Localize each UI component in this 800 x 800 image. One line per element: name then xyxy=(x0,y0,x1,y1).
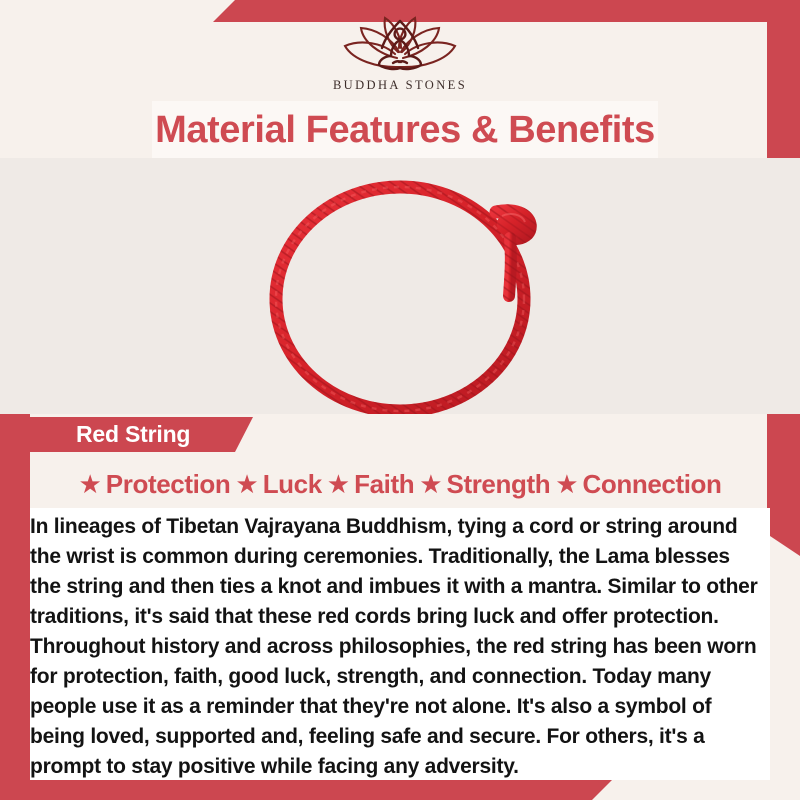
brand-block: BUDDHA STONES xyxy=(0,10,800,93)
feature-list: ★ Protection ★ Luck ★ Faith ★ Strength ★… xyxy=(0,466,800,502)
feature-item-strength: ★ Strength xyxy=(419,471,550,497)
red-string-bracelet-image xyxy=(222,158,582,414)
feature-item-connection: ★ Connection xyxy=(555,471,721,497)
star-icon: ★ xyxy=(235,471,258,497)
feature-label: Connection xyxy=(583,471,722,497)
material-ribbon: Red String xyxy=(30,417,253,452)
product-hero-band xyxy=(0,158,800,414)
page-title: Material Features & Benefits xyxy=(155,111,655,149)
star-icon: ★ xyxy=(555,471,578,497)
material-name-label: Red String xyxy=(30,421,190,448)
infographic-page: BUDDHA STONES Material Features & Benefi… xyxy=(0,0,800,800)
brand-wordmark: BUDDHA STONES xyxy=(333,78,467,93)
star-icon: ★ xyxy=(78,471,101,497)
description-text: In lineages of Tibetan Vajrayana Buddhis… xyxy=(30,512,762,782)
feature-item-luck: ★ Luck xyxy=(235,471,321,497)
feature-item-faith: ★ Faith xyxy=(327,471,414,497)
feature-label: Protection xyxy=(106,471,231,497)
feature-item-protection: ★ Protection xyxy=(78,471,230,497)
star-icon: ★ xyxy=(419,471,442,497)
star-icon: ★ xyxy=(327,471,350,497)
feature-label: Faith xyxy=(354,471,414,497)
description-panel: In lineages of Tibetan Vajrayana Buddhis… xyxy=(30,508,770,780)
lotus-meditating-figure-icon xyxy=(337,10,463,76)
feature-label: Luck xyxy=(263,471,322,497)
headline-banner: Material Features & Benefits xyxy=(152,101,658,158)
feature-label: Strength xyxy=(447,471,551,497)
